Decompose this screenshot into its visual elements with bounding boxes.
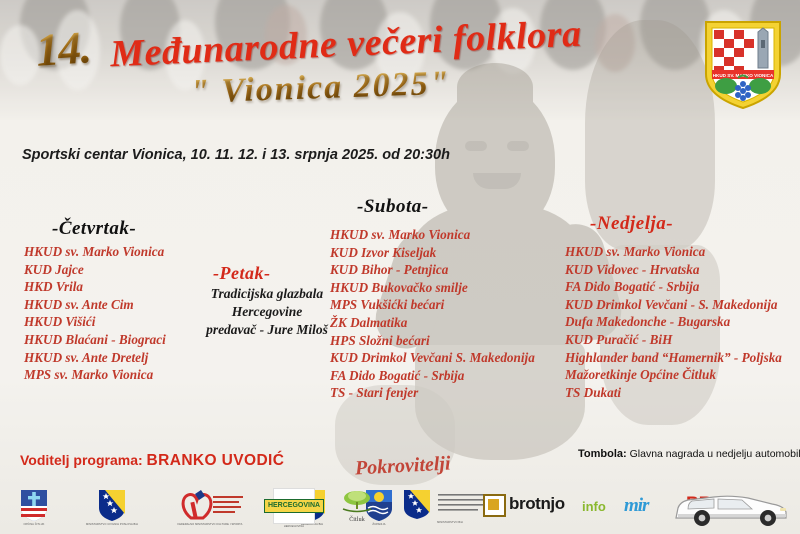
day-heading-cetvrtak: -Četvrtak-: [52, 218, 136, 240]
sponsor-caption: OPĆINA ČITLUK: [8, 523, 60, 526]
list-item: KUD Drimkol Vevčani - S. Makedonija: [565, 296, 782, 314]
program-host-line: Voditelj programa: BRANKO UVODIĆ: [20, 452, 284, 470]
list-item: TS Dukati: [565, 384, 782, 402]
sponsor-ministarstvo-civilnih-poslova: MINISTARSTVO CIVILNIH POSLOVA BiH: [72, 488, 152, 526]
list-item: HKUD sv. Marko Vionica: [24, 243, 166, 261]
hercegovina-logo-icon: HERCEGOVINA: [273, 488, 315, 524]
list-item: KUD Bihor - Petnjica: [330, 261, 535, 279]
sponsor-caption: FEDERALNO MINISTARSTVO KULTURE I SPORTA: [165, 523, 255, 526]
tombola-car-illustration: [668, 484, 792, 530]
list-item: MPS sv. Marko Vionica: [24, 366, 166, 384]
petak-line-3: predavač - Jure Miloš: [192, 321, 342, 339]
list-item: HKUD Blaćani - Biograci: [24, 331, 166, 349]
sponsor-caption: MINISTARSTVO BiH: [395, 521, 505, 524]
day-heading-subota: -Subota-: [357, 196, 429, 218]
citluk-tree-icon: [337, 488, 377, 518]
list-item: KUD Izvor Kiseljak: [330, 244, 535, 262]
list-item: TS - Stari fenjer: [330, 384, 535, 402]
host-name: BRANKO UVODIĆ: [147, 452, 285, 469]
list-item: MPS Vukšićki bećari: [330, 296, 535, 314]
edition-number: 14.: [34, 20, 92, 77]
tombola-text: Glavna nagrada u nedjelju automobil: [627, 448, 800, 460]
opcina-citluk-shield-icon: [19, 488, 49, 522]
list-item: HKUD Bukovačko smilje: [330, 279, 535, 297]
sponsor-opcina-citluk: OPĆINA ČITLUK: [8, 488, 60, 526]
heart-ribbon-icon: [175, 488, 245, 522]
list-item: Dufa Makedonche - Bugarska: [565, 313, 782, 331]
mir-logo-text: mir: [624, 495, 648, 516]
list-item: HKUD sv. Ante Dretelj: [24, 349, 166, 367]
sponsor-hercegovina: HERCEGOVINA HERCEGOVINA: [268, 488, 320, 528]
brotnjo-mark-icon: [483, 494, 506, 517]
sponsor-brotnjo: brotnjo: [483, 494, 593, 517]
day-heading-nedjelja: -Nedjelja-: [590, 213, 673, 235]
hercegovina-logo-text: HERCEGOVINA: [264, 499, 324, 513]
list-item: HKUD sv. Marko Vionica: [330, 226, 535, 244]
poster: 14. Međunarodne večeri folklora " Vionic…: [0, 0, 800, 534]
tombola-note: Tombola: Glavna nagrada u nedjelju autom…: [578, 448, 800, 460]
list-item: Highlander band “Hamernik” - Poljska: [565, 349, 782, 367]
host-label: Voditelj programa:: [20, 452, 143, 468]
day-heading-petak: -Petak-: [213, 263, 270, 284]
petak-line-1: Tradicijska glazbala: [192, 285, 342, 303]
venue-and-date-line: Sportski centar Vionica, 10. 11. 12. i 1…: [22, 147, 450, 163]
citluk-logo-text: Čitluk: [330, 519, 384, 522]
list-item: HKUD sv. Marko Vionica: [565, 243, 782, 261]
list-item: HPS Složni bećari: [330, 332, 535, 350]
list-item: KUD Jajce: [24, 261, 166, 279]
sponsor-caption: MINISTARSTVO CIVILNIH POSLOVA BiH: [72, 523, 152, 526]
hkud-sv-marko-vionica-crest-icon: HKUD SV. MARKO VIONICA: [700, 18, 786, 110]
info-logo-text: info: [582, 499, 606, 514]
list-item: Mažoretkinje Općine Čitluk: [565, 366, 782, 384]
sponsor-caption: HERCEGOVINA: [268, 525, 320, 528]
day-list-cetvrtak: HKUD sv. Marko Vionica KUD Jajce HKD Vri…: [24, 243, 166, 384]
list-item: FA Dido Bogatić - Srbija: [565, 278, 782, 296]
day-list-nedjelja: HKUD sv. Marko Vionica KUD Vidovec - Hrv…: [565, 243, 782, 401]
petak-line-2: Hercegovine: [192, 303, 342, 321]
list-item: HKD Vrila: [24, 278, 166, 296]
list-item: KUD Vidovec - Hrvatska: [565, 261, 782, 279]
list-item: HKUD Višići: [24, 313, 166, 331]
sponsors-heading: Pokrovitelji: [354, 453, 451, 481]
sponsor-citluk: Čitluk: [330, 488, 384, 522]
list-item: KUD Puračić - BiH: [565, 331, 782, 349]
list-item: KUD Drimkol Vevčani S. Makedonija: [330, 349, 535, 367]
sponsor-info: info: [582, 498, 618, 516]
sponsor-federalno-ministarstvo-kulture: FEDERALNO MINISTARSTVO KULTURE I SPORTA: [165, 488, 255, 526]
day-body-petak: Tradicijska glazbala Hercegovine predava…: [192, 285, 342, 339]
tombola-label: Tombola:: [578, 448, 627, 460]
list-item: FA Dido Bogatić - Srbija: [330, 367, 535, 385]
day-list-subota: HKUD sv. Marko Vionica KUD Izvor Kiselja…: [330, 226, 535, 402]
brotnjo-logo-text: brotnjo: [509, 494, 565, 513]
list-item: ŽK Dalmatika: [330, 314, 535, 332]
bih-flag-shield-icon: [97, 488, 127, 522]
list-item: HKUD sv. Ante Cim: [24, 296, 166, 314]
